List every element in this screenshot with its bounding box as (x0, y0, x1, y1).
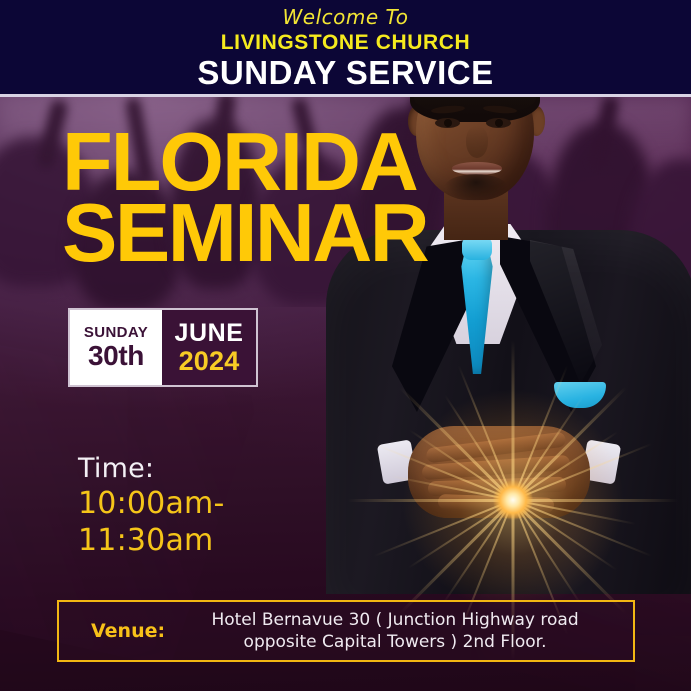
nose (466, 126, 488, 158)
chin-beard (444, 174, 508, 202)
date-day: 30th (88, 341, 144, 371)
event-flyer: FLORIDA SEMINAR SUNDAY 30th JUNE 2024 Ti… (0, 0, 691, 691)
church-name: LIVINGSTONE CHURCH (221, 30, 471, 55)
date-year: 2024 (179, 347, 240, 376)
venue-address-line-1: Hotel Bernavue 30 ( Junction Highway roa… (167, 609, 623, 631)
venue-address: Hotel Bernavue 30 ( Junction Highway roa… (165, 609, 633, 653)
header-divider (0, 94, 691, 97)
finger (438, 494, 554, 513)
date-badge: SUNDAY 30th JUNE 2024 (68, 308, 258, 387)
header-content: Welcome To LIVINGSTONE CHURCH SUNDAY SER… (0, 0, 691, 94)
time-label: Time: (78, 452, 225, 485)
time-block: Time: 10:00am- 11:30am (78, 452, 225, 559)
venue-panel: Venue: Hotel Bernavue 30 ( Junction High… (57, 600, 635, 662)
flyer-header: Welcome To LIVINGSTONE CHURCH SUNDAY SER… (0, 0, 691, 94)
time-value-line-1: 10:00am- (78, 485, 225, 522)
clasped-hands (408, 426, 590, 518)
eye-right (486, 118, 511, 128)
eye-left (435, 118, 460, 128)
date-month: JUNE (174, 320, 243, 347)
date-weekday: SUNDAY (84, 324, 148, 341)
necktie-knot (462, 238, 492, 260)
date-month-group: JUNE 2024 (162, 310, 256, 385)
venue-label: Venue: (91, 620, 165, 642)
title-line-2: SEMINAR (62, 197, 427, 268)
welcome-text: Welcome To (283, 5, 409, 29)
date-weekday-group: SUNDAY 30th (70, 310, 162, 385)
time-value-line-2: 11:30am (78, 522, 225, 559)
venue-address-line-2: opposite Capital Towers ) 2nd Floor. (167, 631, 623, 653)
event-title: FLORIDA SEMINAR (62, 126, 427, 268)
service-name: SUNDAY SERVICE (197, 54, 493, 92)
